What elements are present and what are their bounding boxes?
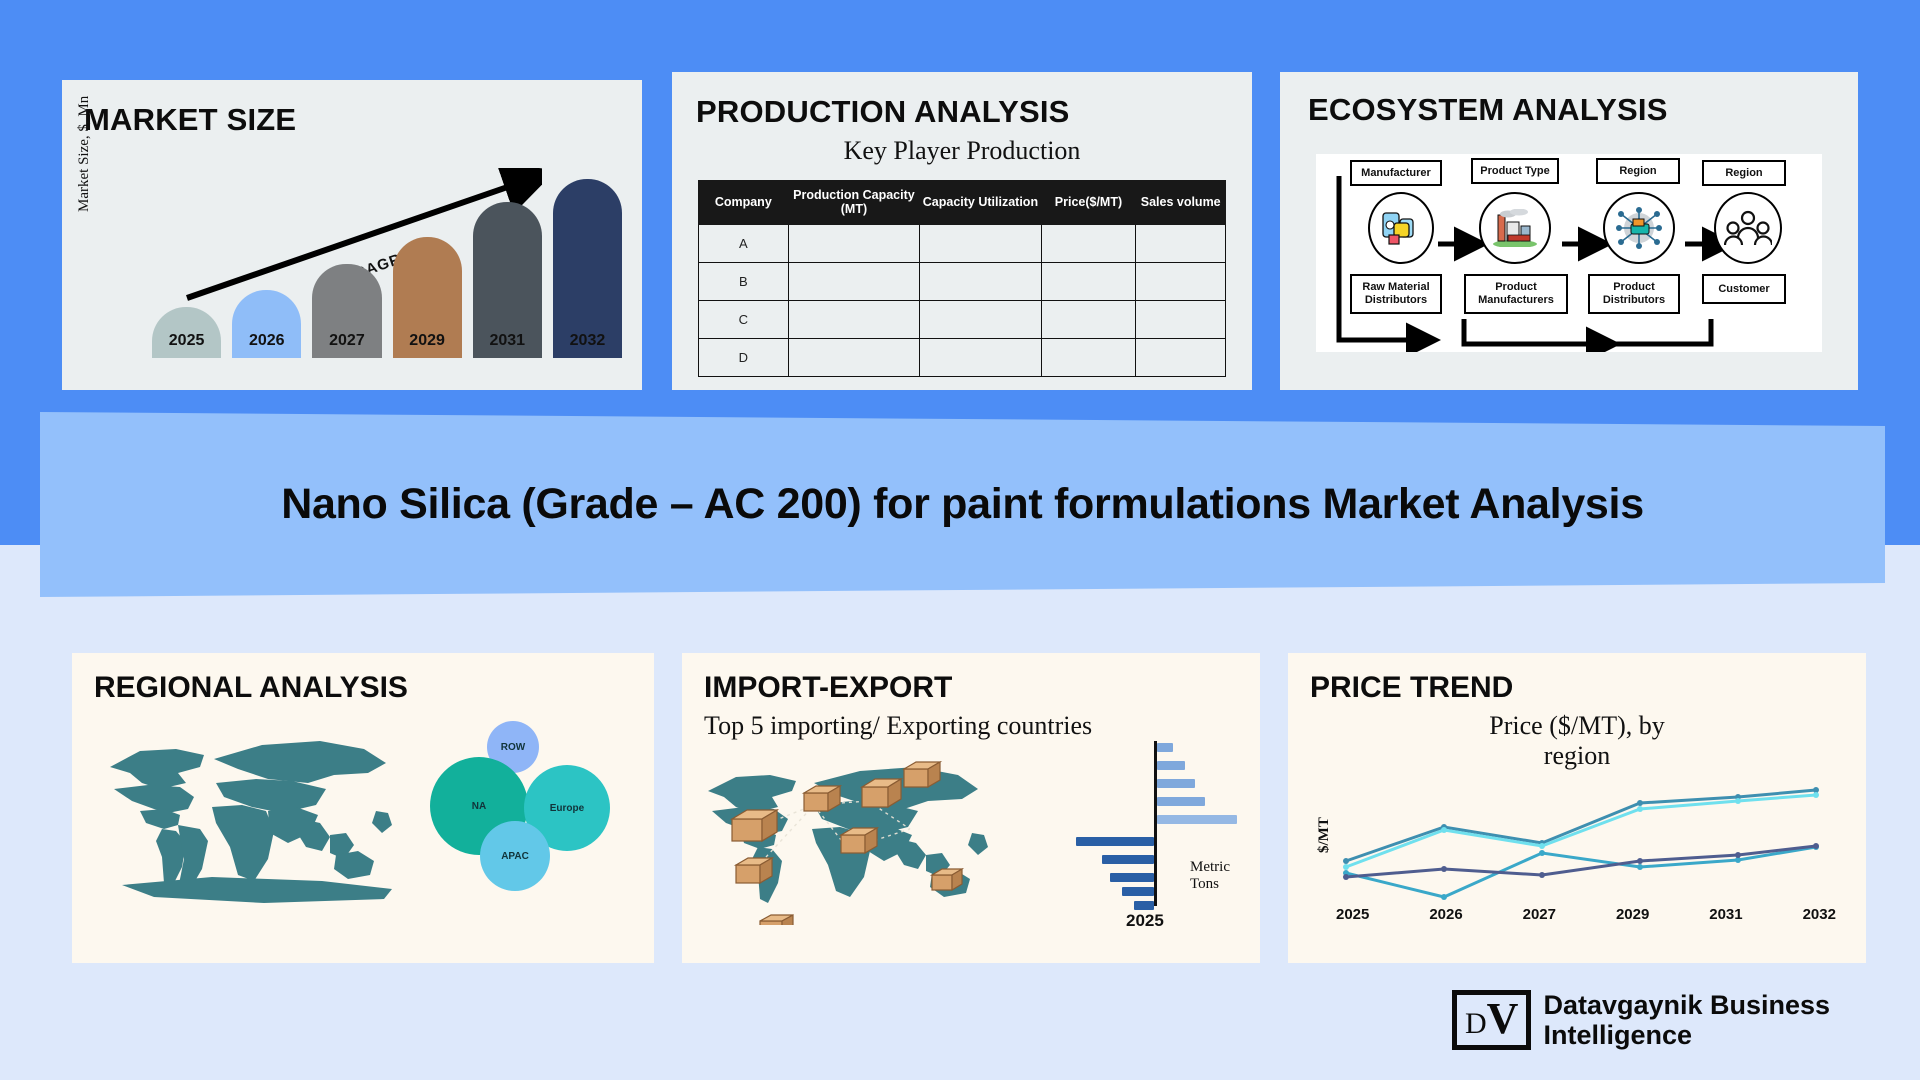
barrels-icon bbox=[1368, 192, 1434, 264]
column-header-production-capacity: Production Capacity (MT) bbox=[788, 181, 920, 225]
eco-node-product-manufacturers: Product Manufacturers bbox=[1464, 274, 1568, 314]
bubble-apac: APAC bbox=[480, 821, 550, 891]
tornado-bar-import bbox=[1122, 887, 1154, 896]
market-size-title: MARKET SIZE bbox=[84, 102, 642, 138]
cell-company: C bbox=[699, 300, 789, 338]
card-ecosystem-analysis: ECOSYSTEM ANALYSIS Manufacturer Product … bbox=[1280, 72, 1858, 390]
x-tick: 2026 bbox=[1429, 906, 1462, 923]
production-table-wrapper: Company Production Capacity (MT) Capacit… bbox=[698, 180, 1226, 377]
tornado-unit-label: Metric Tons bbox=[1190, 859, 1252, 893]
production-title: PRODUCTION ANALYSIS bbox=[696, 94, 1252, 130]
table-row: D bbox=[699, 338, 1226, 376]
market-size-bar: 2029 bbox=[393, 237, 462, 358]
x-tick: 2032 bbox=[1803, 906, 1836, 923]
card-price-trend: PRICE TREND Price ($/MT), by region $/MT… bbox=[1288, 653, 1866, 963]
tornado-bar-export bbox=[1157, 779, 1195, 788]
column-header-price: Price($/MT) bbox=[1041, 181, 1136, 225]
tornado-year-label: 2025 bbox=[1126, 911, 1164, 931]
x-tick: 2029 bbox=[1616, 906, 1649, 923]
eco-node-label: Region bbox=[1725, 167, 1762, 180]
cell-sales bbox=[1136, 224, 1226, 262]
logo-text-line2: Intelligence bbox=[1543, 1020, 1830, 1050]
factory-icon-glyph bbox=[1492, 209, 1538, 247]
tornado-bar-import bbox=[1076, 837, 1154, 846]
eco-node-label: Manufacturer bbox=[1361, 167, 1431, 180]
tornado-bar-export bbox=[1157, 761, 1185, 770]
logo-letter-d: D bbox=[1465, 1009, 1487, 1039]
market-size-bar: 2032 bbox=[553, 179, 622, 358]
world-map-icon bbox=[92, 715, 422, 915]
eco-node-manufacturer: Manufacturer bbox=[1350, 160, 1442, 186]
main-title-banner: Nano Silica (Grade – AC 200) for paint f… bbox=[40, 412, 1885, 597]
eco-node-customer: Customer bbox=[1702, 274, 1786, 304]
cell-price bbox=[1041, 300, 1136, 338]
card-production-analysis: PRODUCTION ANALYSIS Key Player Productio… bbox=[672, 72, 1252, 390]
barrels-icon-glyph bbox=[1380, 209, 1422, 247]
cell-company: D bbox=[699, 338, 789, 376]
ecosystem-title: ECOSYSTEM ANALYSIS bbox=[1308, 92, 1858, 128]
price-trend-title: PRICE TREND bbox=[1310, 671, 1866, 705]
cell-capacity bbox=[788, 224, 920, 262]
market-size-bar-label: 2032 bbox=[553, 332, 622, 350]
market-size-bar-label: 2029 bbox=[393, 332, 462, 350]
cell-utilization bbox=[920, 224, 1041, 262]
column-header-company: Company bbox=[699, 181, 789, 225]
card-import-export: IMPORT-EXPORT Top 5 importing/ Exporting… bbox=[682, 653, 1260, 963]
cell-company: B bbox=[699, 262, 789, 300]
market-size-bar: 2031 bbox=[473, 202, 542, 358]
logo-letter-v: V bbox=[1487, 997, 1519, 1041]
market-size-bar: 2025 bbox=[152, 307, 221, 358]
tornado-bar-export bbox=[1157, 743, 1173, 752]
customers-icon bbox=[1714, 192, 1782, 264]
table-row: C bbox=[699, 300, 1226, 338]
tornado-bar-export bbox=[1157, 815, 1237, 824]
factory-icon bbox=[1479, 192, 1551, 264]
market-size-y-axis-label: Market Size, $, Mn bbox=[76, 96, 93, 212]
eco-node-raw-material-distributors: Raw Material Distributors bbox=[1350, 274, 1442, 314]
cell-sales bbox=[1136, 300, 1226, 338]
price-trend-x-axis-ticks: 2025 2026 2027 2029 2031 2032 bbox=[1336, 906, 1836, 923]
production-subtitle: Key Player Production bbox=[672, 136, 1252, 166]
market-size-bar-label: 2026 bbox=[232, 332, 301, 350]
market-size-bar-label: 2031 bbox=[473, 332, 542, 350]
table-header-row: Company Production Capacity (MT) Capacit… bbox=[699, 181, 1226, 225]
x-tick: 2025 bbox=[1336, 906, 1369, 923]
market-size-bar-label: 2025 bbox=[152, 332, 221, 350]
price-trend-subtitle-line2: region bbox=[1288, 741, 1866, 771]
eco-node-label: Product Type bbox=[1480, 165, 1549, 178]
x-tick: 2031 bbox=[1709, 906, 1742, 923]
table-row: B bbox=[699, 262, 1226, 300]
cell-sales bbox=[1136, 338, 1226, 376]
ecosystem-diagram: Manufacturer Product Type Region Region bbox=[1316, 154, 1822, 352]
bubble-label: ROW bbox=[501, 742, 525, 753]
logo-text-line1: Datavgaynik Business bbox=[1543, 990, 1830, 1020]
distribution-network-icon bbox=[1603, 192, 1675, 264]
market-size-bars: 2025 2026 2027 2029 2031 2032 bbox=[152, 163, 622, 358]
tornado-bar-import bbox=[1102, 855, 1154, 864]
production-table: Company Production Capacity (MT) Capacit… bbox=[698, 180, 1226, 377]
cell-capacity bbox=[788, 262, 920, 300]
page-title: Nano Silica (Grade – AC 200) for paint f… bbox=[281, 480, 1644, 529]
eco-node-region-2: Region bbox=[1702, 160, 1786, 186]
cell-capacity bbox=[788, 300, 920, 338]
eco-node-product-type: Product Type bbox=[1471, 158, 1559, 184]
eco-node-region-1: Region bbox=[1596, 158, 1680, 184]
trade-world-map-icon bbox=[696, 745, 1016, 925]
logo-text: Datavgaynik Business Intelligence bbox=[1543, 990, 1830, 1050]
cell-utilization bbox=[920, 300, 1041, 338]
eco-node-label: Customer bbox=[1718, 283, 1769, 296]
card-regional-analysis: REGIONAL ANALYSIS ROW NA Europe APAC bbox=[72, 653, 654, 963]
eco-node-label: Product Distributors bbox=[1592, 281, 1676, 306]
price-trend-subtitle-line1: Price ($/MT), by bbox=[1288, 711, 1866, 741]
cell-utilization bbox=[920, 338, 1041, 376]
trade-title: IMPORT-EXPORT bbox=[704, 671, 1260, 705]
logo-mark-icon: DV bbox=[1452, 990, 1531, 1050]
import-export-tornado-chart: Metric Tons 2025 bbox=[1072, 741, 1252, 931]
bubble-label: APAC bbox=[501, 851, 529, 862]
price-points-series-4 bbox=[1343, 843, 1819, 880]
column-header-capacity-utilization: Capacity Utilization bbox=[920, 181, 1041, 225]
column-header-sales-volume: Sales volume bbox=[1136, 181, 1226, 225]
cell-capacity bbox=[788, 338, 920, 376]
cell-sales bbox=[1136, 262, 1226, 300]
cell-utilization bbox=[920, 262, 1041, 300]
market-size-bar-label: 2027 bbox=[312, 332, 381, 350]
brand-logo: DV Datavgaynik Business Intelligence bbox=[1452, 990, 1830, 1050]
cell-price bbox=[1041, 262, 1136, 300]
tornado-bar-import bbox=[1134, 901, 1154, 910]
cell-price bbox=[1041, 338, 1136, 376]
cell-price bbox=[1041, 224, 1136, 262]
price-trend-line-chart bbox=[1336, 785, 1836, 910]
x-tick: 2027 bbox=[1523, 906, 1556, 923]
price-line-series-4 bbox=[1346, 846, 1816, 877]
market-size-bar: 2027 bbox=[312, 264, 381, 358]
table-row: A bbox=[699, 224, 1226, 262]
tornado-bar-export bbox=[1157, 797, 1205, 806]
bubble-label: Europe bbox=[550, 803, 584, 814]
eco-node-label: Raw Material Distributors bbox=[1354, 281, 1438, 306]
tornado-bar-import bbox=[1110, 873, 1154, 882]
eco-node-product-distributors: Product Distributors bbox=[1588, 274, 1680, 314]
market-size-bar: 2026 bbox=[232, 290, 301, 358]
eco-node-label: Product Manufacturers bbox=[1468, 281, 1564, 306]
distribution-network-icon-glyph bbox=[1613, 204, 1665, 252]
regional-title: REGIONAL ANALYSIS bbox=[94, 671, 654, 705]
eco-node-label: Region bbox=[1619, 165, 1656, 178]
price-trend-y-axis-label: $/MT bbox=[1316, 817, 1333, 853]
card-market-size: MARKET SIZE Market Size, $, Mn CAGR 2025… bbox=[62, 80, 642, 390]
customers-icon-glyph bbox=[1724, 208, 1772, 248]
cell-company: A bbox=[699, 224, 789, 262]
price-line-series-2 bbox=[1346, 795, 1816, 867]
market-size-chart: Market Size, $, Mn CAGR 2025 2026 2027 2… bbox=[62, 138, 642, 358]
bubble-label: NA bbox=[472, 801, 486, 812]
trade-subtitle: Top 5 importing/ Exporting countries bbox=[704, 711, 1260, 741]
